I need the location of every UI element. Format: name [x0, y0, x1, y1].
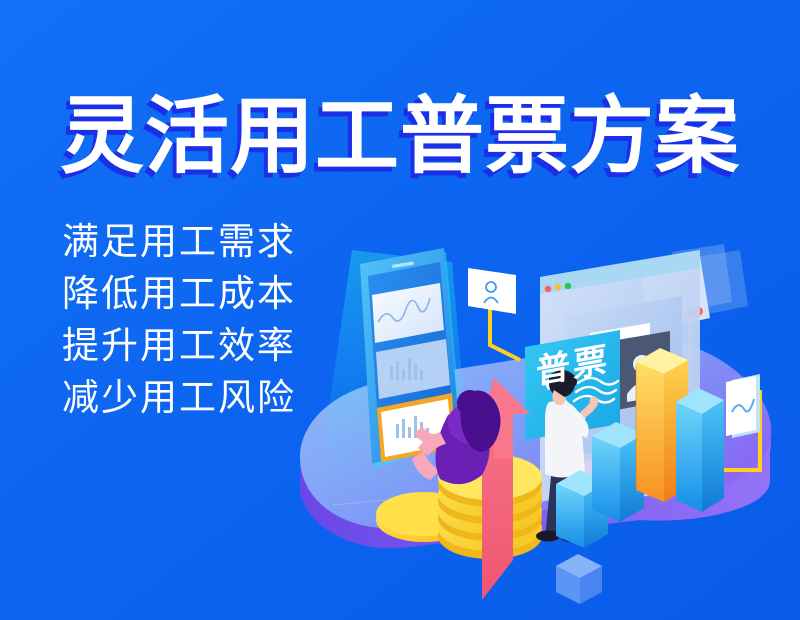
- bar-4: [676, 388, 724, 512]
- user-flag-card: [468, 268, 516, 314]
- subtitle-item-1: 满足用工需求: [62, 216, 296, 268]
- subtitle-item-4: 减少用工风险: [62, 372, 296, 424]
- subtitle-list: 满足用工需求 降低用工成本 提升用工效率 减少用工风险: [62, 216, 296, 424]
- subtitle-item-2: 降低用工成本: [62, 268, 296, 320]
- poster-canvas: 灵活用工普票方案 满足用工需求 降低用工成本 提升用工效率 减少用工风险 普票: [0, 0, 800, 620]
- line-chart-flag-card: [726, 374, 760, 438]
- subtitle-item-3: 提升用工效率: [62, 320, 296, 372]
- page-title: 灵活用工普票方案: [60, 88, 740, 184]
